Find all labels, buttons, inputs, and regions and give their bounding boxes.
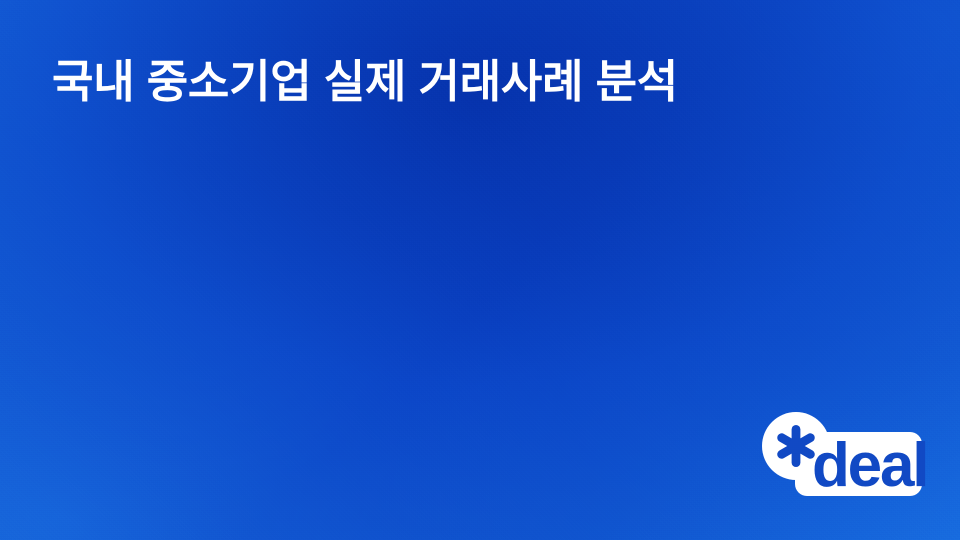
deal-logo[interactable]: deal (762, 410, 926, 502)
page-title: 국내 중소기업 실제 거래사례 분석 (52, 55, 678, 110)
slide-canvas: 국내 중소기업 실제 거래사례 분석 deal (0, 0, 960, 540)
logo-svg: deal (762, 410, 926, 502)
logo-wordmark: deal (812, 431, 927, 500)
